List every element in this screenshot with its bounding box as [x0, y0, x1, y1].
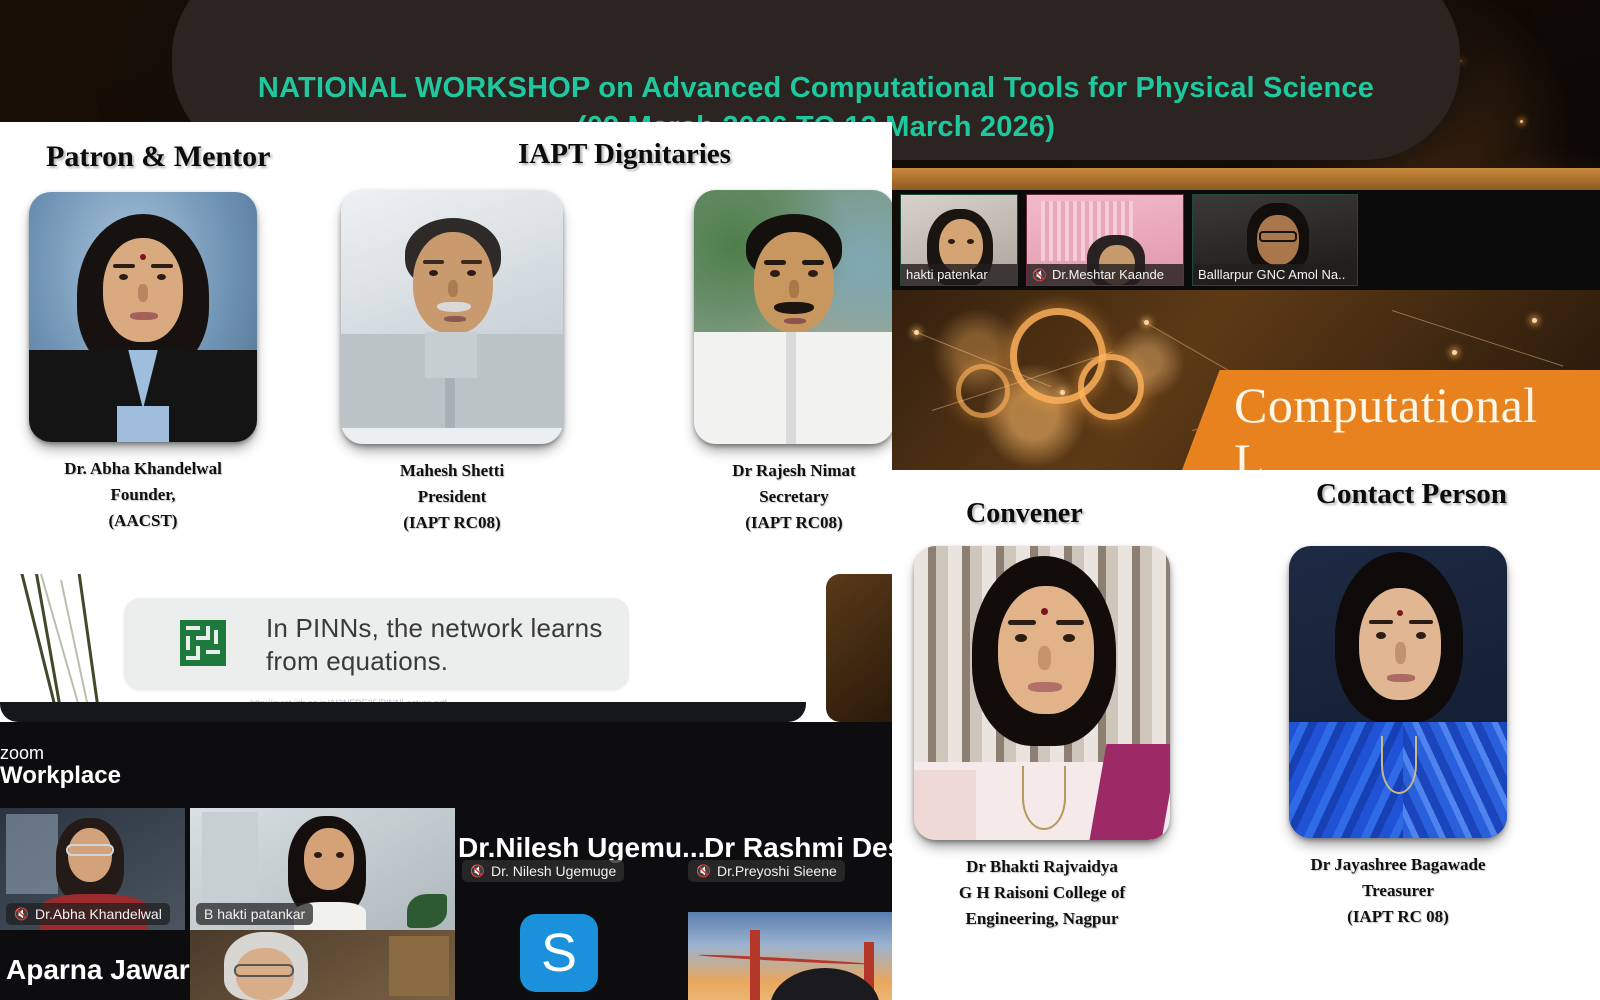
person-card-secretary: Dr Rajesh Nimat Secretary (IAPT RC08) — [672, 190, 892, 535]
avatar — [29, 192, 257, 442]
avatar — [1289, 546, 1507, 838]
avatar — [341, 190, 563, 444]
participant-tile[interactable]: 🔇 Dr.Abha Khandelwal — [0, 808, 185, 930]
pinn-callout-text: In PINNs, the network learns from equati… — [266, 612, 603, 679]
participant-name-label: 🔇 Dr.Abha Khandelwal — [6, 903, 170, 925]
zoom-brand-logo: zoom Workplace — [0, 744, 121, 789]
computational-banner: Computational L — [1182, 370, 1600, 470]
person-role: President — [330, 484, 574, 510]
skype-icon: S — [520, 914, 598, 992]
pinn-lecture-slide: In PINNs, the network learns from equati… — [0, 574, 892, 722]
section-heading-convener: Convener — [966, 498, 1083, 530]
person-org: (IAPT RC08) — [330, 510, 574, 536]
person-org: (IAPT RC 08) — [1198, 904, 1598, 930]
convener-and-contact-panel: Convener Contact Person Dr Bhakti Ra — [892, 470, 1600, 1000]
participant-name-label: 🔇 Dr.Preyoshi Sieene — [688, 860, 845, 882]
patron-and-dignitaries-panel: Patron & Mentor IAPT Dignitaries Dr. — [0, 122, 892, 574]
person-card-patron: Dr. Abha Khandelwal Founder, (AACST) — [18, 192, 268, 533]
adjacent-slide-thumbnail — [826, 574, 892, 722]
participant-tile-bridge-background[interactable] — [688, 912, 892, 1000]
zoom-meeting-top-screenshot: hakti patenkar 🔇 Dr.Meshtar Kaande Balll… — [892, 168, 1600, 470]
banner-subtitle: L — [1234, 432, 1265, 470]
banner-title: Computational — [1234, 376, 1538, 434]
maze-icon — [180, 620, 226, 666]
person-role: Founder, — [18, 482, 268, 508]
mute-icon: 🔇 — [14, 907, 29, 921]
participant-tile[interactable] — [190, 930, 455, 1000]
slide-frame-edge — [0, 702, 806, 722]
person-role: Secretary — [672, 484, 892, 510]
mute-icon: 🔇 — [696, 864, 711, 878]
participant-name-label: 🔇 Dr. Nilesh Ugemuge — [462, 860, 624, 882]
zoom-workplace-screenshot: zoom Workplace Aparna Jaware Dr.Nilesh U… — [0, 722, 892, 1000]
mute-icon: 🔇 — [1032, 268, 1047, 282]
person-role: Treasurer — [1198, 878, 1598, 904]
participant-tile[interactable]: 🔇 Dr.Meshtar Kaande — [1026, 194, 1184, 286]
section-heading-contact-person: Contact Person — [1316, 478, 1507, 511]
participant-tile-strip: hakti patenkar 🔇 Dr.Meshtar Kaande Balll… — [900, 190, 1600, 290]
person-name: Dr Jayashree Bagawade — [1198, 852, 1598, 878]
section-heading-patron-mentor: Patron & Mentor — [46, 140, 270, 174]
person-role: G H Raisoni College of — [892, 880, 1192, 906]
participant-name-label: B hakti patankar — [196, 903, 313, 925]
wood-bar-decoration — [892, 168, 1600, 190]
participant-name-label: 🔇 Dr.Meshtar Kaande — [1027, 264, 1183, 285]
person-org: Engineering, Nagpur — [892, 906, 1192, 932]
avatar — [914, 546, 1170, 840]
person-card-convener: Dr Bhakti Rajvaidya G H Raisoni College … — [892, 546, 1192, 931]
participant-name-label: hakti patenkar — [901, 264, 1017, 285]
person-card-contact: Dr Jayashree Bagawade Treasurer (IAPT RC… — [1198, 546, 1598, 929]
page-title-line-1: NATIONAL WORKSHOP on Advanced Computatio… — [258, 69, 1374, 107]
participant-tile[interactable]: B hakti patankar — [190, 808, 455, 930]
participant-name-label: Balllarpur GNC Amol Na.. — [1193, 264, 1357, 285]
participant-tile[interactable]: hakti patenkar — [900, 194, 1018, 286]
person-name: Dr Rajesh Nimat — [672, 458, 892, 484]
person-org: (IAPT RC08) — [672, 510, 892, 536]
pinn-callout-card: In PINNs, the network learns from equati… — [124, 598, 629, 690]
person-name: Mahesh Shetti — [330, 458, 574, 484]
section-heading-iapt-dignitaries: IAPT Dignitaries — [518, 138, 731, 171]
person-org: (AACST) — [18, 508, 268, 534]
avatar — [694, 190, 892, 444]
person-name: Dr. Abha Khandelwal — [18, 456, 268, 482]
active-speaker-name-aparna: Aparna Jaware — [6, 954, 205, 986]
person-name: Dr Bhakti Rajvaidya — [892, 854, 1192, 880]
person-card-president: Mahesh Shetti President (IAPT RC08) — [330, 190, 574, 535]
participant-tile[interactable]: Balllarpur GNC Amol Na.. — [1192, 194, 1358, 286]
mute-icon: 🔇 — [470, 864, 485, 878]
